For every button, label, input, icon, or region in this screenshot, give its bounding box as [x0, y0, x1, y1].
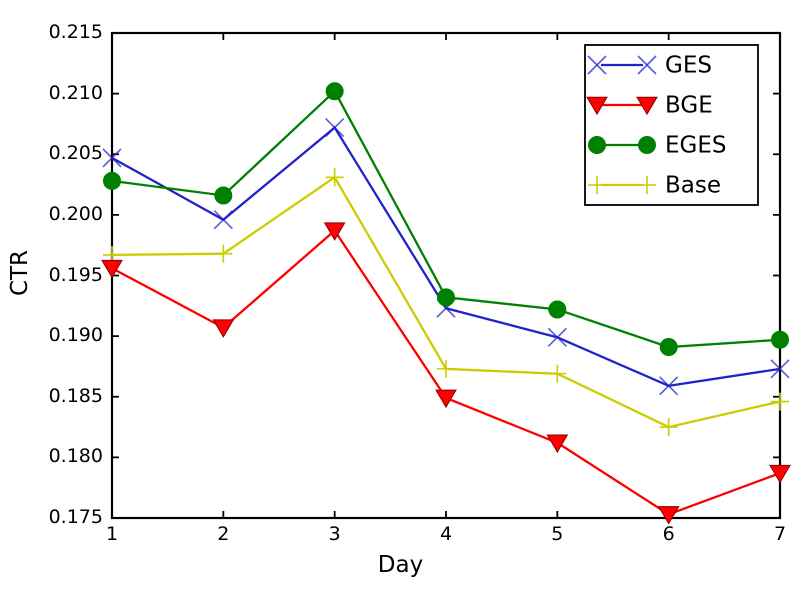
- circle-marker: [589, 137, 606, 154]
- triangle-down-marker: [547, 435, 567, 452]
- chart-legend: GESBGEEGESBase: [585, 45, 758, 205]
- y-tick-label: 0.215: [0, 21, 110, 43]
- y-tick-label: 0.205: [0, 142, 110, 164]
- x-axis-label: Day: [0, 552, 801, 578]
- x-tick-label: 1: [87, 523, 137, 545]
- x-tick-label: 5: [532, 523, 582, 545]
- line-chart-canvas: GESBGEEGESBase: [0, 0, 801, 600]
- x-tick-label: 4: [421, 523, 471, 545]
- legend-label-bge: BGE: [665, 93, 713, 119]
- triangle-down-marker: [436, 390, 456, 407]
- circle-marker: [549, 301, 566, 318]
- circle-marker: [772, 331, 789, 348]
- circle-marker: [660, 339, 677, 356]
- x-tick-label: 3: [310, 523, 360, 545]
- circle-marker: [438, 289, 455, 306]
- triangle-down-marker: [213, 320, 233, 337]
- chart-figure: GESBGEEGESBase Day CTR 0.1750.1800.1850.…: [0, 0, 801, 600]
- x-tick-label: 6: [644, 523, 694, 545]
- x-tick-label: 7: [755, 523, 801, 545]
- triangle-down-marker: [770, 465, 790, 482]
- circle-marker: [639, 137, 656, 154]
- y-tick-label: 0.190: [0, 324, 110, 346]
- circle-marker: [104, 172, 121, 189]
- y-tick-label: 0.210: [0, 82, 110, 104]
- legend-label-base: Base: [665, 173, 721, 199]
- circle-marker: [326, 83, 343, 100]
- y-tick-label: 0.185: [0, 385, 110, 407]
- y-tick-label: 0.200: [0, 203, 110, 225]
- circle-marker: [215, 187, 232, 204]
- legend-label-ges: GES: [665, 53, 712, 79]
- y-tick-label: 0.195: [0, 264, 110, 286]
- triangle-down-marker: [659, 507, 679, 524]
- y-tick-label: 0.180: [0, 445, 110, 467]
- x-tick-label: 2: [198, 523, 248, 545]
- legend-label-eges: EGES: [665, 133, 727, 159]
